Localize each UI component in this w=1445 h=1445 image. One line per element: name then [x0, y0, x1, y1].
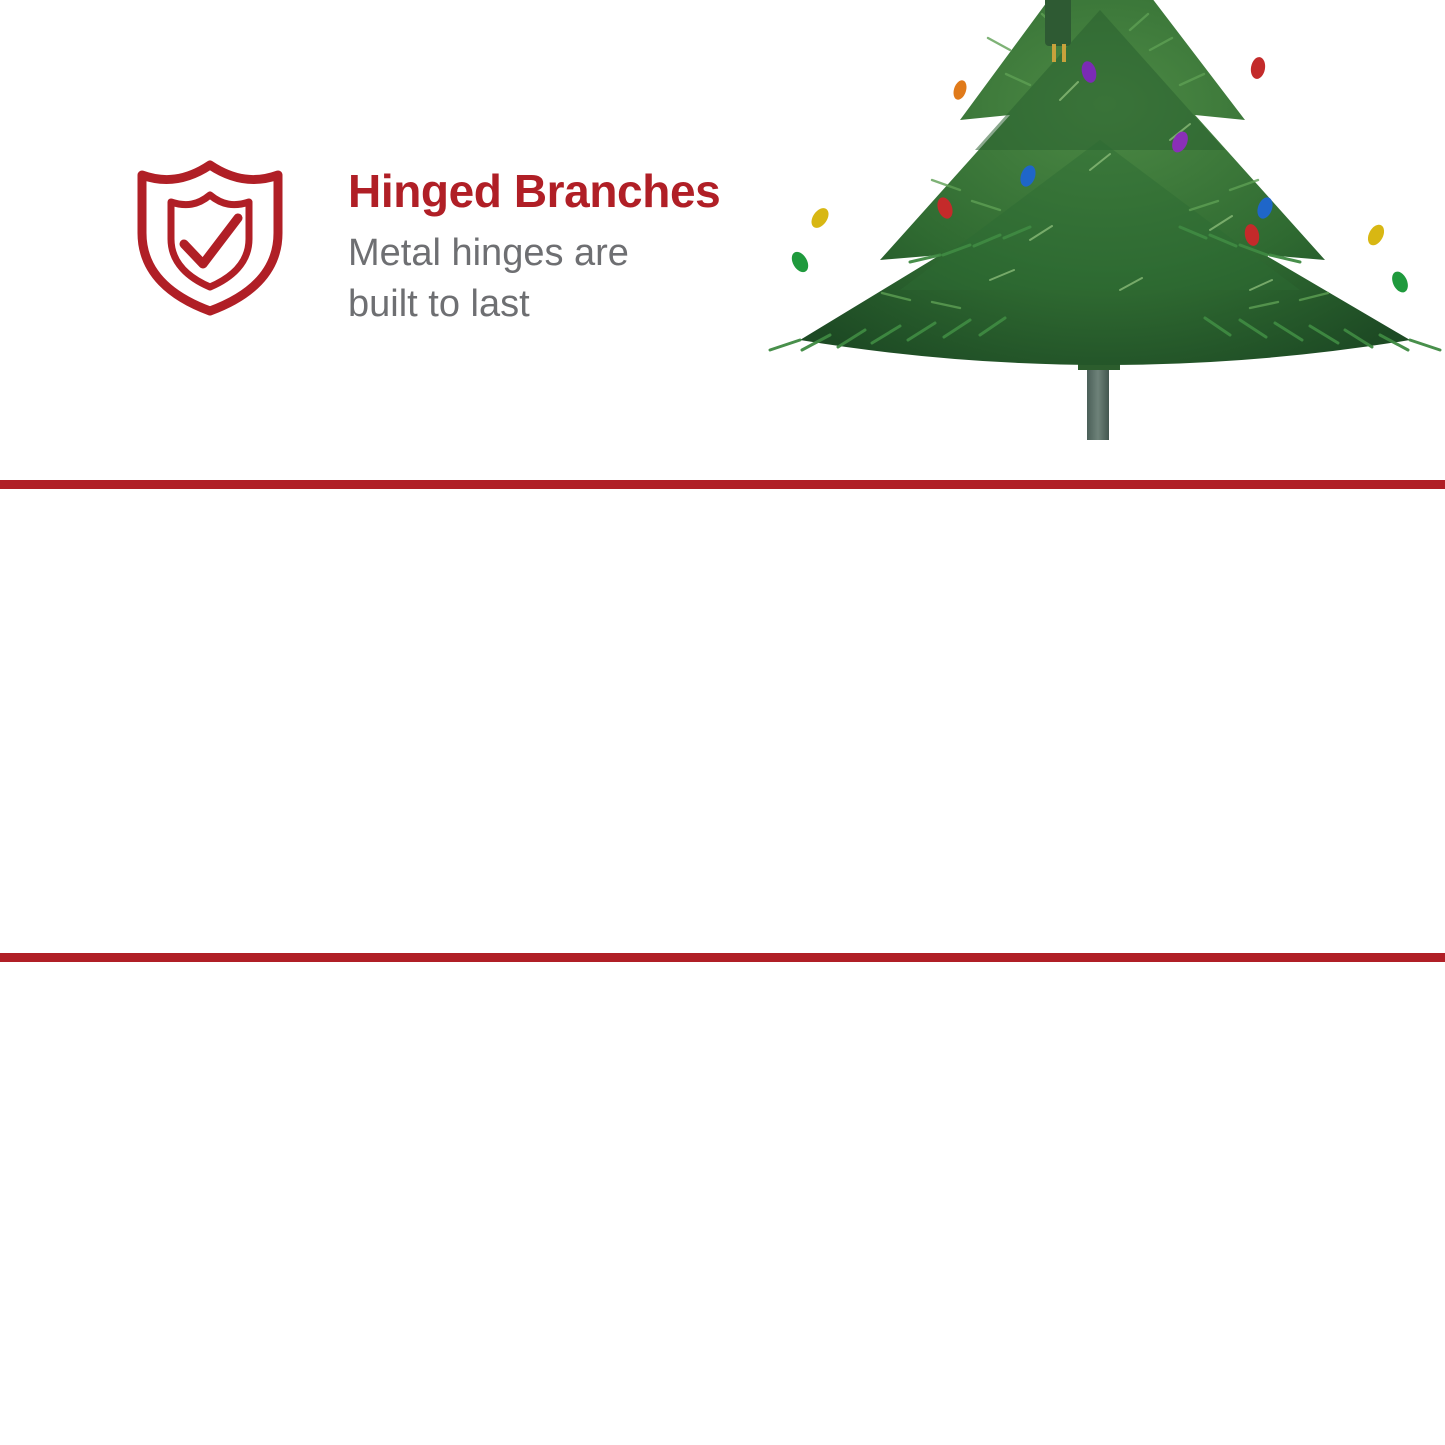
feature-text-hinged-branches: Hinged Branches Metal hinges are built t…	[348, 167, 720, 330]
shield-check-icon	[130, 155, 290, 317]
feature-subtitle-hinged-branches: Metal hinges are built to last	[348, 228, 720, 330]
feature-subtitle-line: Metal hinges are	[348, 228, 720, 279]
christmas-tree-lower-branches-photo	[760, 0, 1445, 485]
feature-title-hinged-branches: Hinged Branches	[348, 167, 720, 216]
feature-panel-hinged-branches: Hinged Branches Metal hinges are built t…	[0, 0, 1445, 485]
feature-panel-pvc-tips: PVC Tips Flame-retardant and easy to flu…	[0, 489, 1445, 958]
divider-line-bottom	[0, 953, 1445, 962]
product-feature-infographic: Hinged Branches Metal hinges are built t…	[0, 0, 1445, 1445]
divider-line-top	[0, 480, 1445, 489]
feature-subtitle-line: built to last	[348, 279, 720, 330]
feature-panel-sturdy-base: Sturdy Base A reliable metal stand for y…	[0, 962, 1445, 1445]
